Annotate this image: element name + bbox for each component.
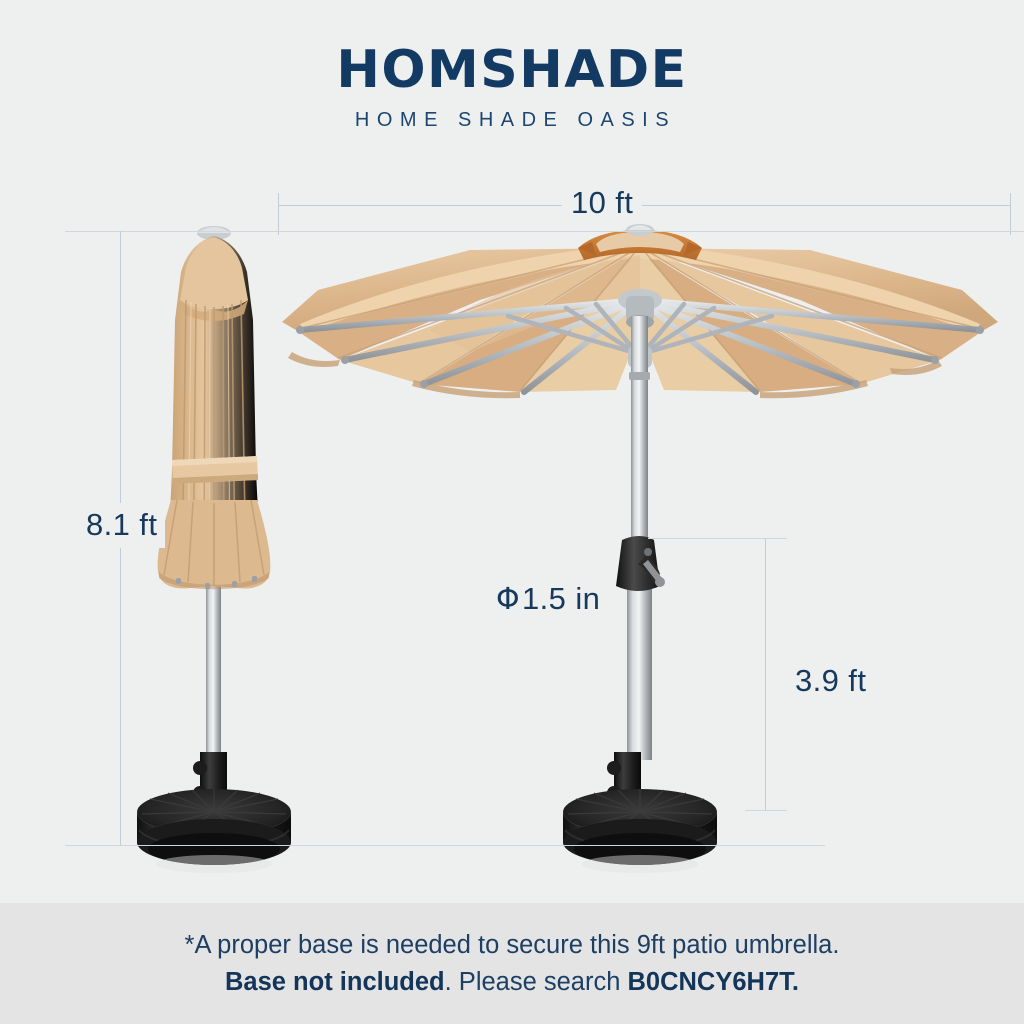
dimension-label-canopy-width: 10 ft (562, 187, 642, 220)
guide-canopy-width-tick-left (278, 193, 279, 235)
guide-ground-line (65, 845, 825, 846)
guide-top-extension-line (65, 231, 1024, 232)
dimension-label-lower-pole: 3.9 ft (786, 665, 875, 698)
closed-umbrella-view (137, 226, 291, 873)
guide-lower-pole-tick-bottom (745, 810, 787, 811)
dimension-label-total-height: 8.1 ft (78, 503, 165, 548)
brand-header: HOMSHADE HOME SHADE OASIS (0, 44, 1024, 130)
product-infographic: HOMSHADE HOME SHADE OASIS (0, 0, 1024, 1024)
footer-line-base-required: *A proper base is needed to secure this … (185, 931, 840, 959)
footer-base-not-included: Base not included (225, 968, 445, 996)
pole-diameter-value: 1.5 in (522, 581, 600, 616)
footer-please-search: . Please search (445, 968, 628, 996)
open-umbrella-view (282, 224, 998, 873)
guide-canopy-width-tick-right (1010, 193, 1011, 235)
diameter-symbol-icon: Φ (496, 582, 520, 617)
guide-lower-pole-line (765, 538, 766, 810)
guide-lower-pole-tick-top (745, 538, 787, 539)
brand-tagline: HOME SHADE OASIS (0, 110, 1024, 130)
guide-canopy-width-line (278, 205, 1011, 206)
footer-note: *A proper base is needed to secure this … (0, 903, 1024, 1024)
dimension-label-pole-diameter: Φ1.5 in (487, 583, 609, 616)
footer-asin-code: B0CNCY6H7T. (628, 968, 799, 996)
footer-line-asin: Base not included. Please search B0CNCY6… (225, 968, 799, 996)
brand-name: HOMSHADE (0, 44, 1024, 96)
